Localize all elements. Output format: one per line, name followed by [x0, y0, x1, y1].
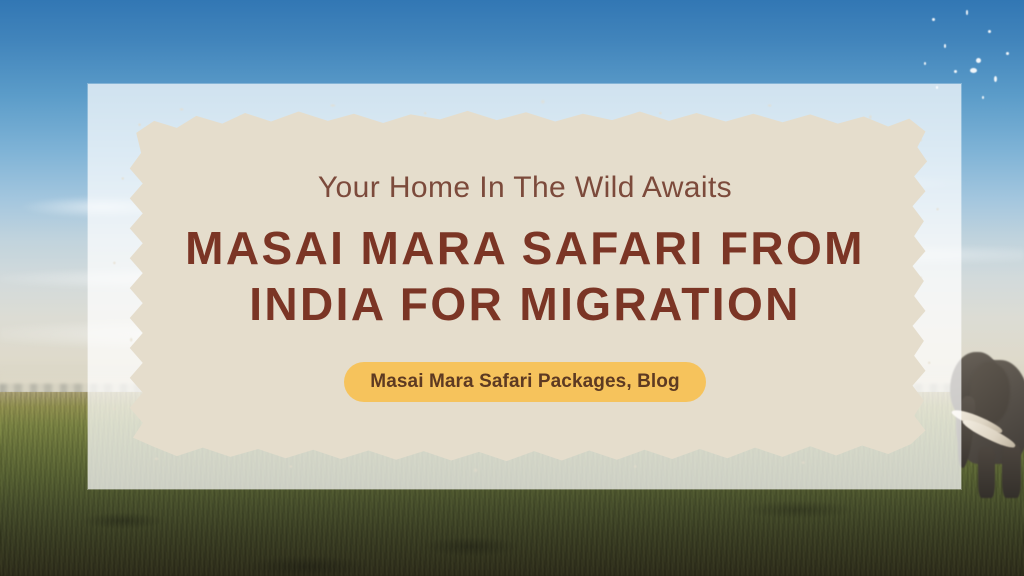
- elephant-leg-front: [978, 448, 995, 498]
- safari-hero-banner: Masai Mara Safari From Your Home In The …: [0, 0, 1024, 576]
- eyebrow-text: Your Home In The Wild Awaits: [318, 170, 732, 206]
- hero-content: Your Home In The Wild Awaits Masai Mara …: [120, 86, 930, 486]
- elephant-leg-back: [1002, 444, 1021, 498]
- category-badge[interactable]: Masai Mara Safari Packages, Blog: [344, 362, 705, 403]
- page-title: Masai Mara Safari From India For Migrati…: [155, 220, 895, 332]
